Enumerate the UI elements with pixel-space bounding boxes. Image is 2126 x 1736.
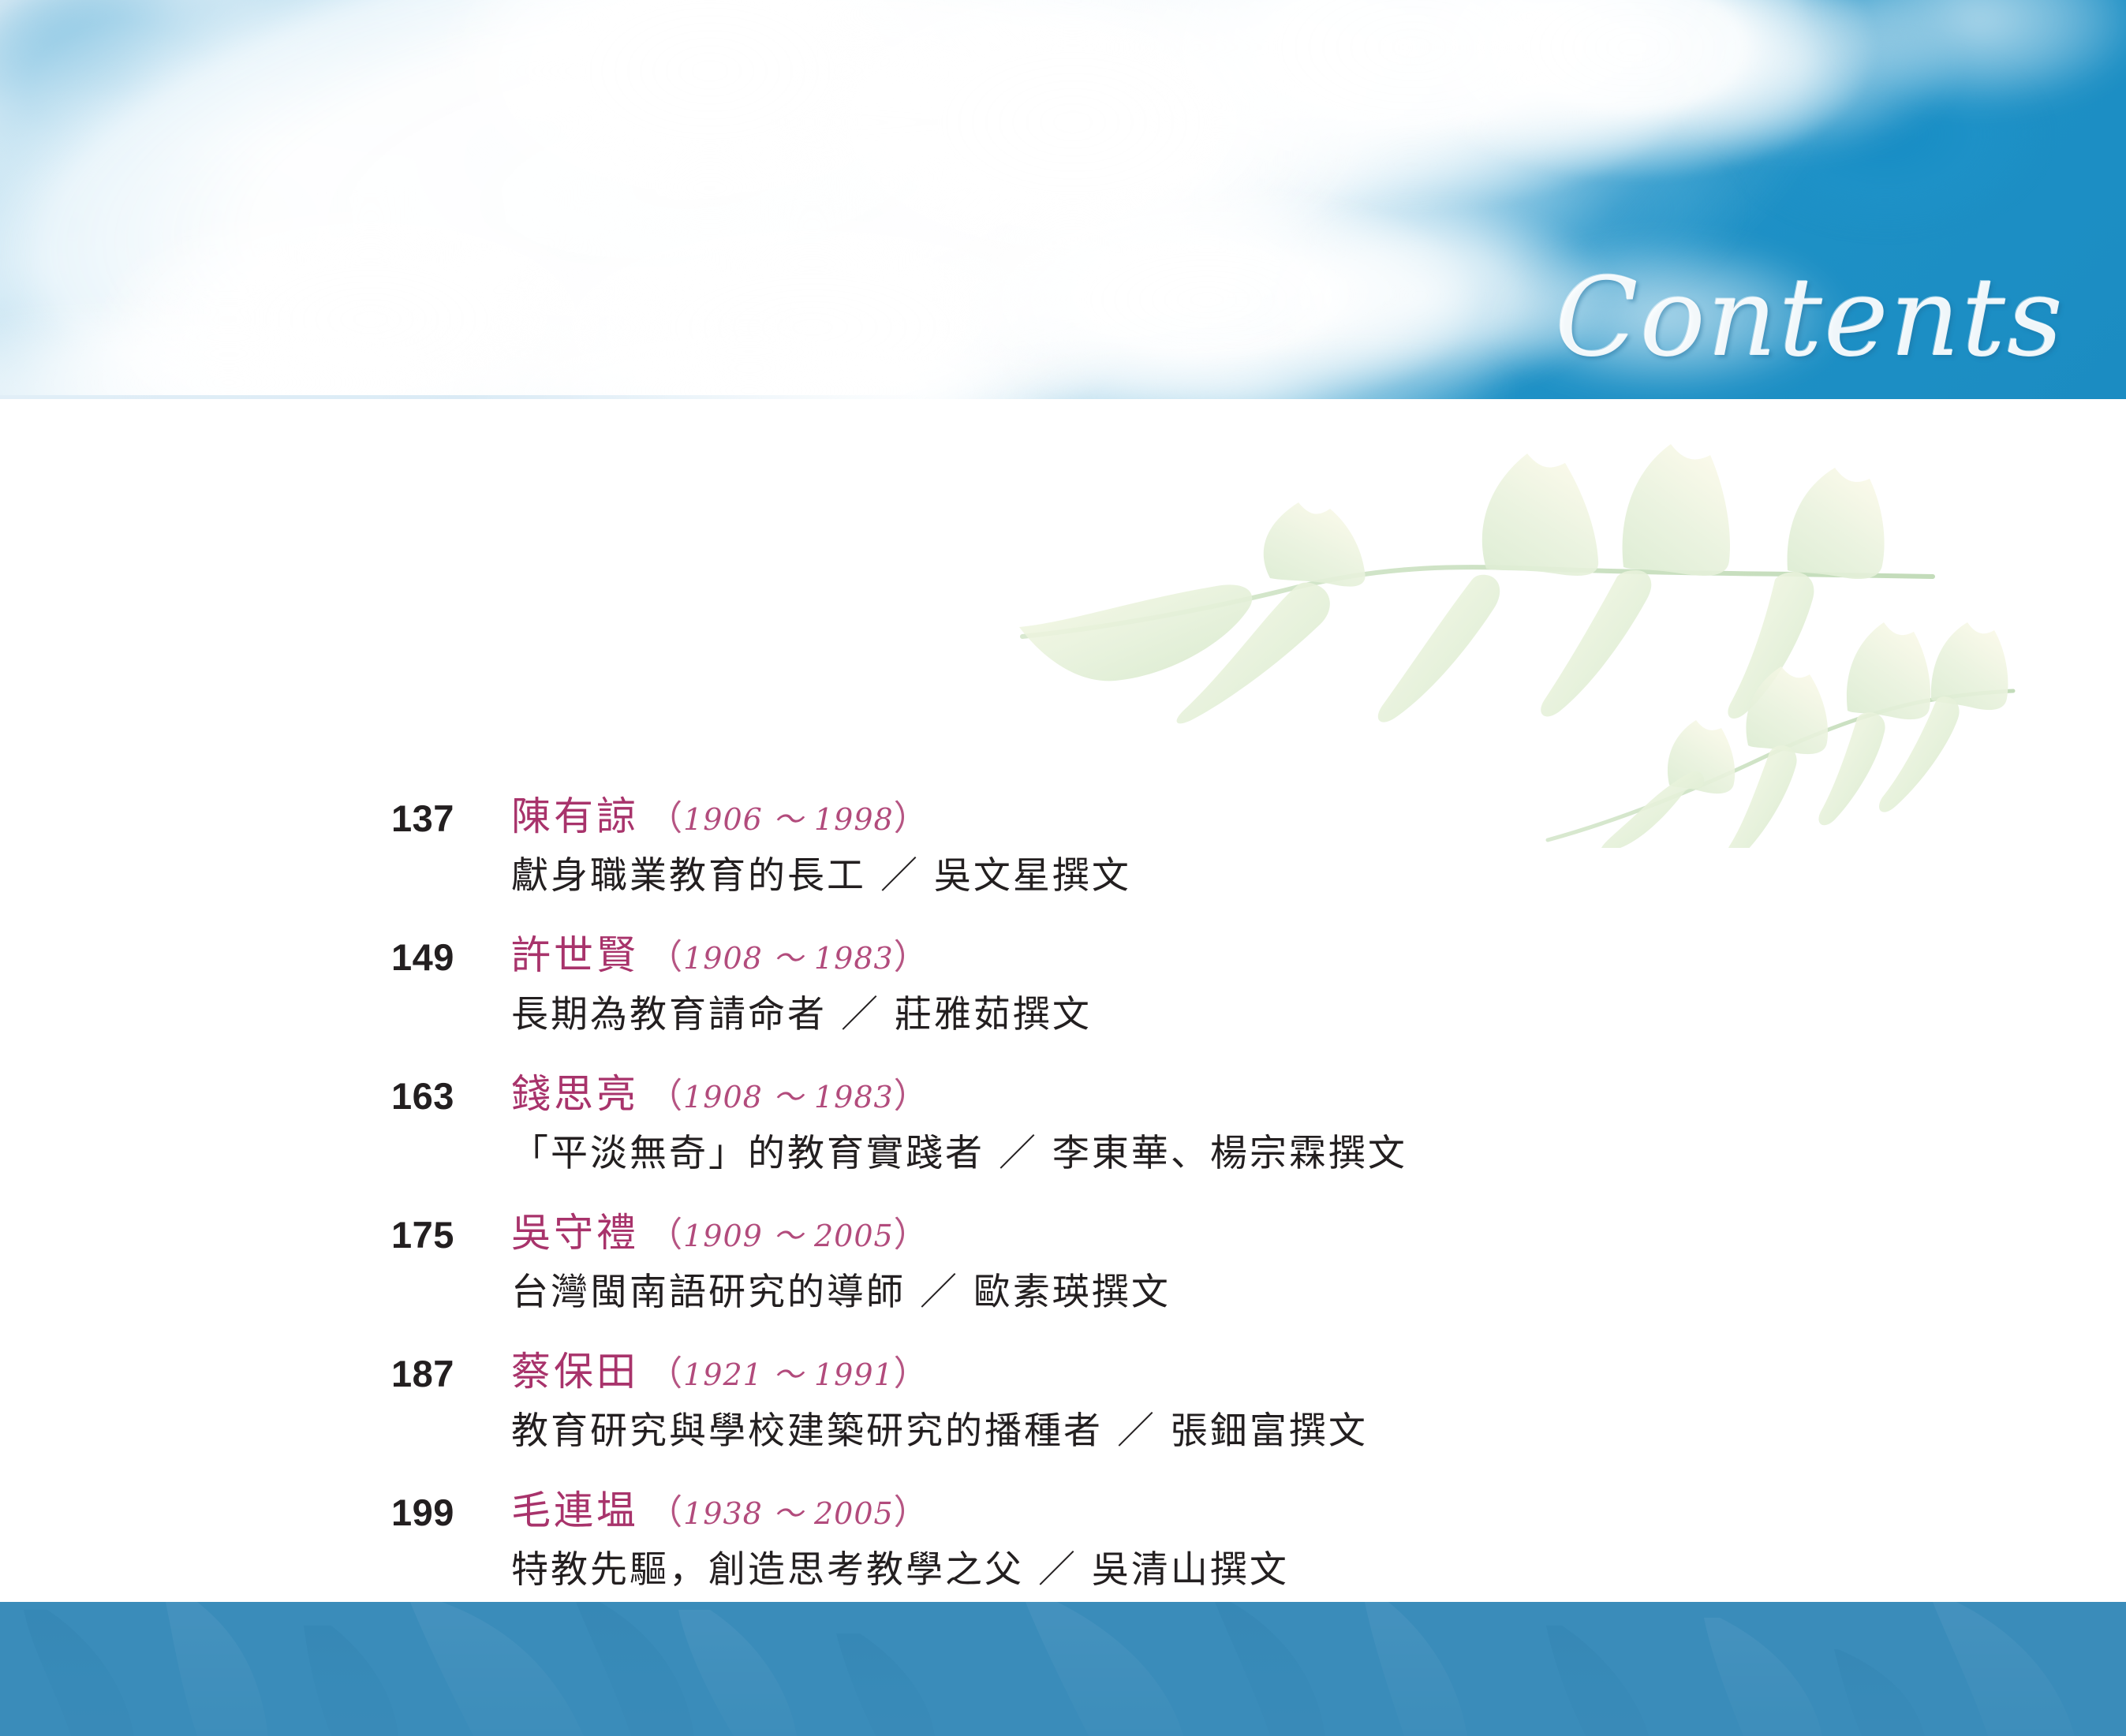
table-of-contents: 137 陳有諒 （1906 ～ 1998） 獻身職業教育的長工 ／ 吳文星撰文 …	[0, 797, 2126, 1681]
toc-entry-subtitle: 「平淡無奇」的教育實踐者 ／ 李東華、楊宗霖撰文	[0, 1133, 2126, 1175]
toc-entry-subtitle: 台灣閩南語研究的導師 ／ 歐素瑛撰文	[0, 1271, 2126, 1314]
page-title: Contents	[1555, 263, 2064, 372]
header-bottom-highlight	[0, 395, 931, 399]
page-number[interactable]: 163	[391, 1077, 492, 1114]
header-sky-banner: Contents	[0, 0, 2126, 399]
paren-close: ）	[894, 1353, 929, 1394]
paren-close: ）	[894, 1492, 929, 1533]
toc-entry[interactable]: 175 吳守禮 （1909 ～ 2005） 台灣閩南語研究的導師 ／ 歐素瑛撰文	[0, 1213, 2126, 1314]
page-number[interactable]: 187	[391, 1355, 492, 1392]
paren-close: ）	[894, 798, 929, 838]
years-range: 1921 ～ 1991	[683, 1357, 894, 1392]
person-name: 陳有諒	[511, 797, 639, 836]
paren-close: ）	[894, 1076, 929, 1116]
years-range: 1908 ～ 1983	[683, 1080, 894, 1114]
toc-entry-subtitle: 教育研究與學校建築研究的播種者 ／ 張鈿富撰文	[0, 1410, 2126, 1453]
footer-blue-band	[0, 1602, 2126, 1736]
toc-entry[interactable]: 187 蔡保田 （1921 ～ 1991） 教育研究與學校建築研究的播種者 ／ …	[0, 1352, 2126, 1453]
years-range: 1908 ～ 1983	[683, 941, 894, 976]
life-years: （1921 ～ 1991）	[648, 1352, 929, 1391]
paren-open: （	[648, 937, 683, 977]
leaf-branch-watermark-icon	[1018, 430, 2067, 848]
toc-entry-header: 149 許世賢 （1908 ～ 1983）	[0, 935, 2126, 984]
life-years: （1938 ～ 2005）	[648, 1491, 929, 1530]
person-name: 錢思亮	[511, 1074, 639, 1114]
paren-open: （	[648, 1353, 683, 1394]
life-years: （1908 ～ 1983）	[648, 935, 929, 975]
person-name: 蔡保田	[511, 1352, 639, 1391]
paren-open: （	[648, 798, 683, 838]
paren-close: ）	[894, 937, 929, 977]
paren-open: （	[648, 1492, 683, 1533]
toc-entry-subtitle: 獻身職業教育的長工 ／ 吳文星撰文	[0, 855, 2126, 898]
years-range: 1909 ～ 2005	[683, 1219, 894, 1253]
toc-entry-subtitle: 特教先驅，創造思考教學之父 ／ 吳清山撰文	[0, 1549, 2126, 1592]
toc-entry-header: 187 蔡保田 （1921 ～ 1991）	[0, 1352, 2126, 1401]
toc-entry[interactable]: 199 毛連塭 （1938 ～ 2005） 特教先驅，創造思考教學之父 ／ 吳清…	[0, 1491, 2126, 1592]
person-name: 毛連塭	[511, 1491, 639, 1530]
paren-close: ）	[894, 1215, 929, 1255]
person-name: 吳守禮	[511, 1213, 639, 1253]
paren-open: （	[648, 1215, 683, 1255]
paren-open: （	[648, 1076, 683, 1116]
years-range: 1906 ～ 1998	[683, 802, 894, 837]
toc-entry-subtitle: 長期為教育請命者 ／ 莊雅茹撰文	[0, 994, 2126, 1036]
toc-entry[interactable]: 163 錢思亮 （1908 ～ 1983） 「平淡無奇」的教育實踐者 ／ 李東華…	[0, 1074, 2126, 1175]
toc-entry-header: 199 毛連塭 （1938 ～ 2005）	[0, 1491, 2126, 1540]
page-number[interactable]: 175	[391, 1216, 492, 1253]
life-years: （1908 ～ 1983）	[648, 1074, 929, 1114]
page-number[interactable]: 149	[391, 939, 492, 976]
page-number[interactable]: 137	[391, 800, 492, 837]
toc-entry[interactable]: 149 許世賢 （1908 ～ 1983） 長期為教育請命者 ／ 莊雅茹撰文	[0, 935, 2126, 1036]
life-years: （1906 ～ 1998）	[648, 797, 929, 836]
life-years: （1909 ～ 2005）	[648, 1213, 929, 1253]
years-range: 1938 ～ 2005	[683, 1496, 894, 1531]
toc-entry-header: 163 錢思亮 （1908 ～ 1983）	[0, 1074, 2126, 1123]
toc-entry-header: 137 陳有諒 （1906 ～ 1998）	[0, 797, 2126, 846]
toc-entry-header: 175 吳守禮 （1909 ～ 2005）	[0, 1213, 2126, 1262]
page-number[interactable]: 199	[391, 1494, 492, 1531]
toc-entry[interactable]: 137 陳有諒 （1906 ～ 1998） 獻身職業教育的長工 ／ 吳文星撰文	[0, 797, 2126, 898]
person-name: 許世賢	[511, 935, 639, 975]
